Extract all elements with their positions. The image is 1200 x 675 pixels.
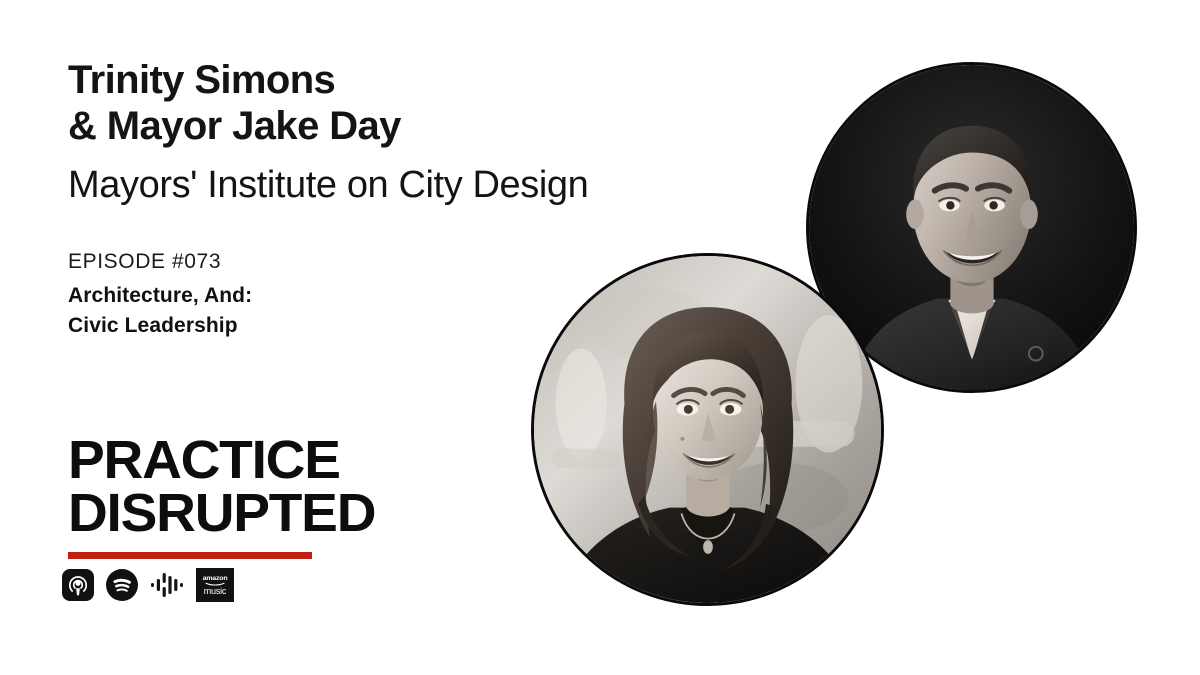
guest-organization: Mayors' Institute on City Design [68,163,728,208]
google-podcasts-icon[interactable] [150,570,184,600]
apple-podcasts-icon[interactable] [62,569,94,601]
brand-lockup: PRACTICE DISRUPTED [68,434,488,559]
platform-icon-row: amazon music [62,568,234,602]
apple-podcasts-glyph [62,569,94,601]
amazon-music-wordmark-bottom: music [204,587,227,596]
portrait-trinity-simons-image [534,256,881,603]
amazon-music-wordmark-top: amazon [203,575,228,582]
spotify-glyph [106,569,138,601]
podcast-episode-poster: Trinity Simons & Mayor Jake Day Mayors' … [0,0,1200,675]
brand-word-disrupted: DISRUPTED [68,487,496,540]
amazon-swoosh-icon [205,582,225,586]
brand-word-practice: PRACTICE [68,434,496,487]
google-podcasts-glyph [150,570,184,600]
amazon-music-icon[interactable]: amazon music [196,568,234,602]
spotify-icon[interactable] [106,569,138,601]
portrait-trinity-simons [531,253,884,606]
guest-names: Trinity Simons & Mayor Jake Day [68,58,728,149]
brand-underline-rule [68,552,312,559]
